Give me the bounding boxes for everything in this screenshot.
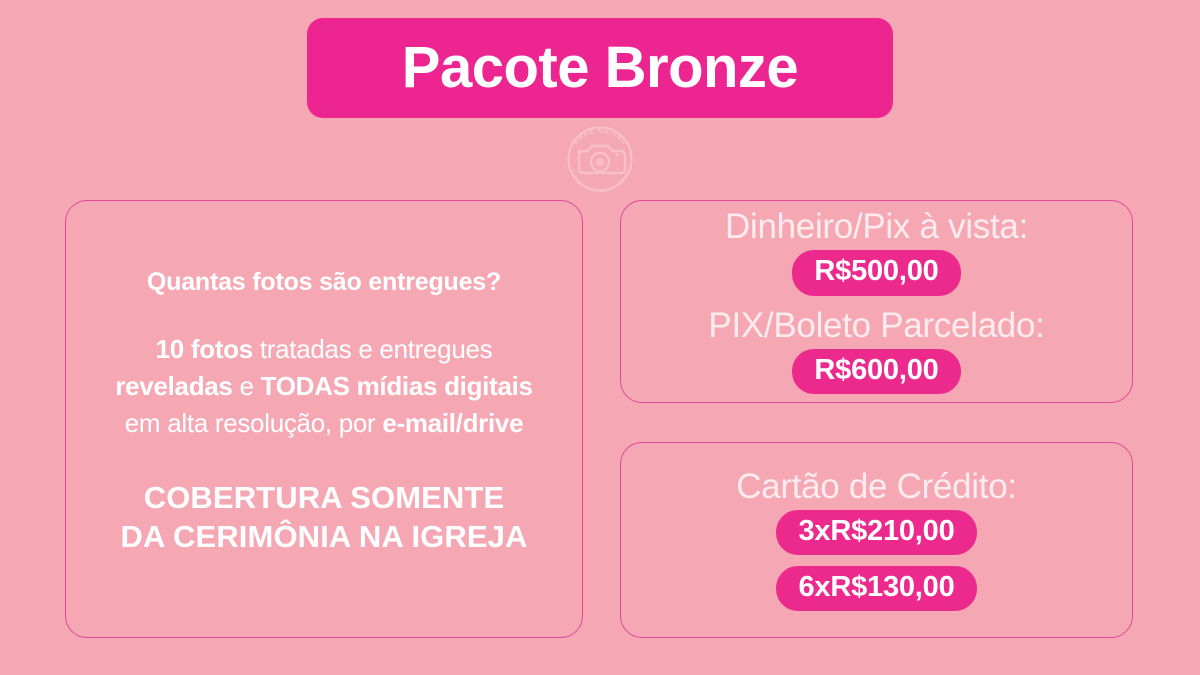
description-line: reveladas e TODAS mídias digitais (115, 368, 532, 405)
camera-logo-watermark: Kéka Noivas Fotografia Materno Infantil (553, 123, 647, 195)
payment-method-label: Cartão de Crédito: (736, 467, 1017, 506)
photos-question: Quantas fotos são entregues? (147, 267, 501, 297)
price-badge[interactable]: 3xR$210,00 (776, 510, 976, 555)
price-badge[interactable]: 6xR$130,00 (776, 566, 976, 611)
payment-method-label: Dinheiro/Pix à vista: (725, 207, 1028, 246)
price-badge[interactable]: R$500,00 (792, 250, 960, 295)
payment-method-label: PIX/Boleto Parcelado: (708, 306, 1044, 345)
description-line: 10 fotos tratadas e entregues (115, 331, 532, 368)
coverage-line: DA CERIMÔNIA NA IGREJA (121, 517, 528, 557)
credit-card-pricing-card: Cartão de Crédito: 3xR$210,00 6xR$130,00 (620, 442, 1133, 638)
photos-description: 10 fotos tratadas e entregues reveladas … (115, 331, 532, 442)
title-banner: Pacote Bronze (307, 18, 893, 118)
svg-text:Kéka Noivas: Kéka Noivas (571, 126, 629, 146)
cash-pix-pricing-card: Dinheiro/Pix à vista: R$500,00 PIX/Bolet… (620, 200, 1133, 403)
coverage-note: COBERTURA SOMENTE DA CERIMÔNIA NA IGREJA (121, 478, 528, 557)
page-title: Pacote Bronze (402, 39, 798, 97)
photos-info-card: Quantas fotos são entregues? 10 fotos tr… (65, 200, 583, 638)
price-badge[interactable]: R$600,00 (792, 349, 960, 394)
description-line: em alta resolução, por e-mail/drive (115, 405, 532, 442)
coverage-line: COBERTURA SOMENTE (121, 478, 528, 518)
svg-text:Fotografia Materno Infantil: Fotografia Materno Infantil (569, 170, 631, 194)
